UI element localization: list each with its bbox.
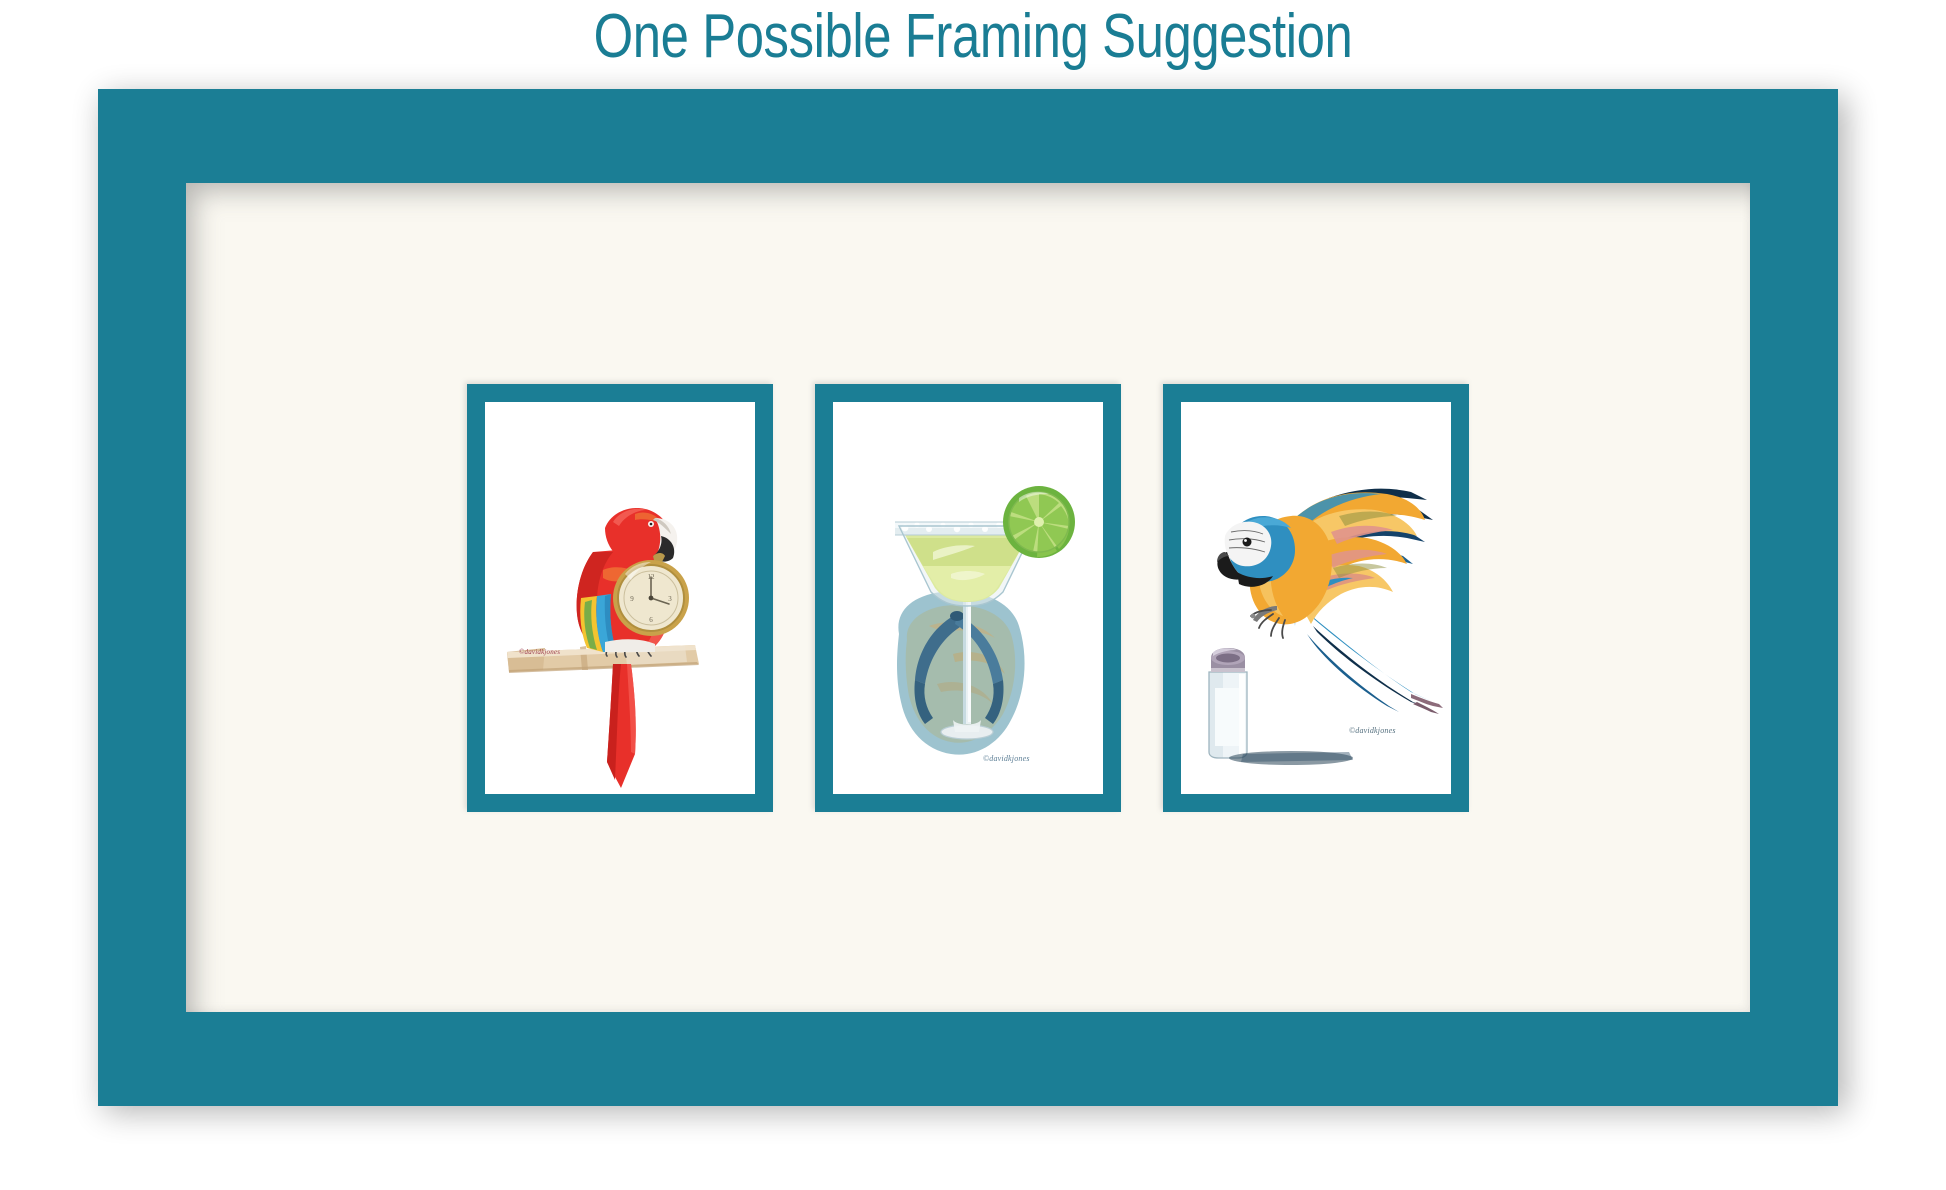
- print-opening-3[interactable]: ©davidkjones: [1163, 384, 1469, 812]
- blue-and-gold-macaw-with-salt-shaker-artwork: [1181, 402, 1451, 794]
- salt-shaker: [1209, 648, 1247, 758]
- picture-frame: 12 3 6 9: [98, 89, 1838, 1106]
- page-title: One Possible Framing Suggestion: [175, 4, 1771, 69]
- svg-text:9: 9: [630, 595, 634, 603]
- print-paper-2: ©davidkjones: [833, 402, 1103, 794]
- svg-text:6: 6: [649, 616, 653, 624]
- lime-wheel-garnish: [1003, 486, 1075, 558]
- print-opening-1[interactable]: 12 3 6 9: [467, 384, 773, 812]
- svg-text:12: 12: [648, 573, 656, 581]
- scarlet-macaw-with-pocket-watch-artwork: 12 3 6 9: [485, 402, 755, 794]
- print-opening-2[interactable]: ©davidkjones: [815, 384, 1121, 812]
- artist-signature-print-3: ©davidkjones: [1349, 726, 1396, 735]
- svg-text:3: 3: [668, 595, 672, 603]
- tail-feathers: [1307, 614, 1443, 714]
- tail-feathers: [607, 664, 636, 788]
- print-paper-1: 12 3 6 9: [485, 402, 755, 794]
- mat-openings-row: 12 3 6 9: [186, 183, 1750, 1012]
- artist-signature-print-2: ©davidkjones: [983, 754, 1030, 763]
- margarita-on-flip-flop-artwork: [833, 402, 1103, 794]
- print-paper-3: ©davidkjones: [1181, 402, 1451, 794]
- artist-signature-print-1: ©davidkjones: [519, 648, 560, 656]
- mat-board: 12 3 6 9: [186, 183, 1750, 1012]
